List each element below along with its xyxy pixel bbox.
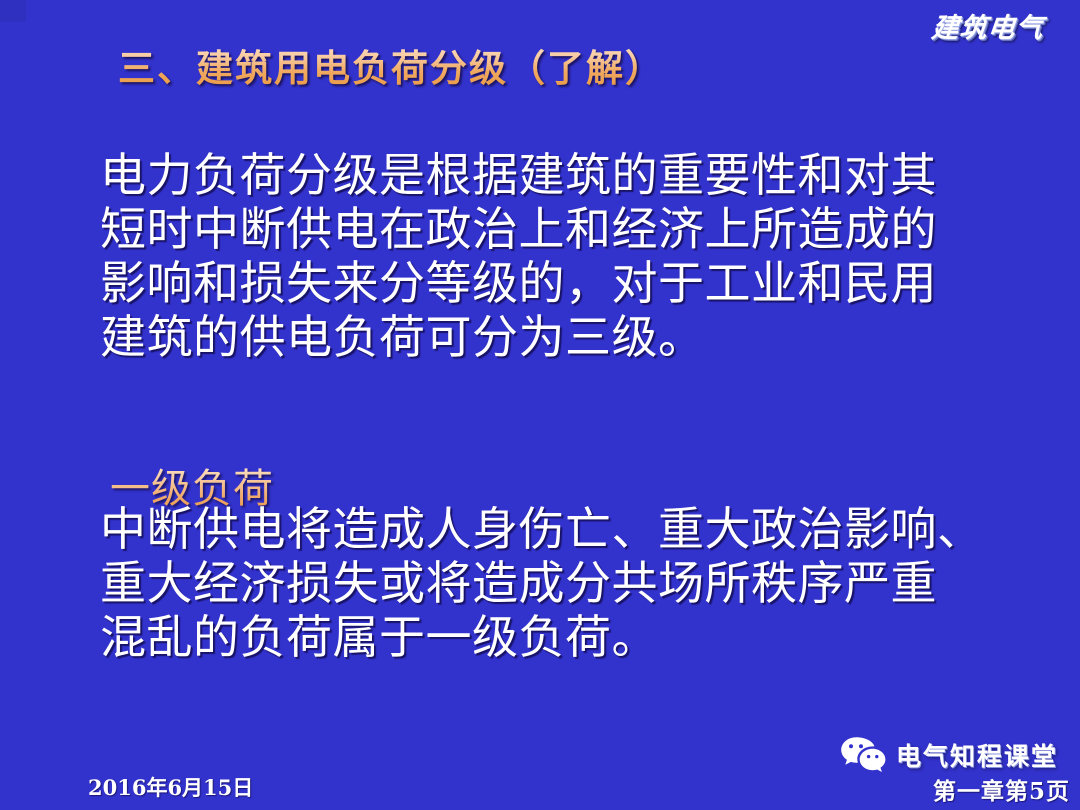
corner-artifact xyxy=(0,0,26,22)
footer-page-marker: 第一章第5页 xyxy=(933,772,1070,806)
definition-line-2: 短时中断供电在政治上和经济上所造成的 xyxy=(100,202,937,256)
wechat-icon xyxy=(840,736,886,774)
presentation-slide: 建筑电气 三、建筑用电负荷分级（了解） 电力负荷分级是根据建筑的重要性和对其 短… xyxy=(0,0,1080,810)
definition-line-1: 电力负荷分级是根据建筑的重要性和对其 xyxy=(100,148,937,202)
wechat-icon-glyph xyxy=(840,736,886,774)
footer-date: 2016年6月15日 xyxy=(88,772,253,802)
level-one-load-paragraph: 中断供电将造成人身伤亡、重大政治影响、 重大经济损失或将造成分共场所秩序严重 混… xyxy=(100,502,984,664)
level-one-line-1: 中断供电将造成人身伤亡、重大政治影响、 xyxy=(100,502,984,556)
wechat-watermark: 电气知程课堂 xyxy=(840,736,1058,774)
definition-paragraph: 电力负荷分级是根据建筑的重要性和对其 短时中断供电在政治上和经济上所造成的 影响… xyxy=(100,148,937,364)
definition-line-3: 影响和损失来分等级的，对于工业和民用 xyxy=(100,256,937,310)
brand-logo: 建筑电气 xyxy=(930,6,1046,45)
level-one-line-3: 混乱的负荷属于一级负荷。 xyxy=(100,610,984,664)
section-title: 三、建筑用电负荷分级（了解） xyxy=(118,38,664,92)
wechat-account-name: 电气知程课堂 xyxy=(896,737,1058,773)
definition-line-4: 建筑的供电负荷可分为三级。 xyxy=(100,310,937,364)
level-one-line-2: 重大经济损失或将造成分共场所秩序严重 xyxy=(100,556,984,610)
